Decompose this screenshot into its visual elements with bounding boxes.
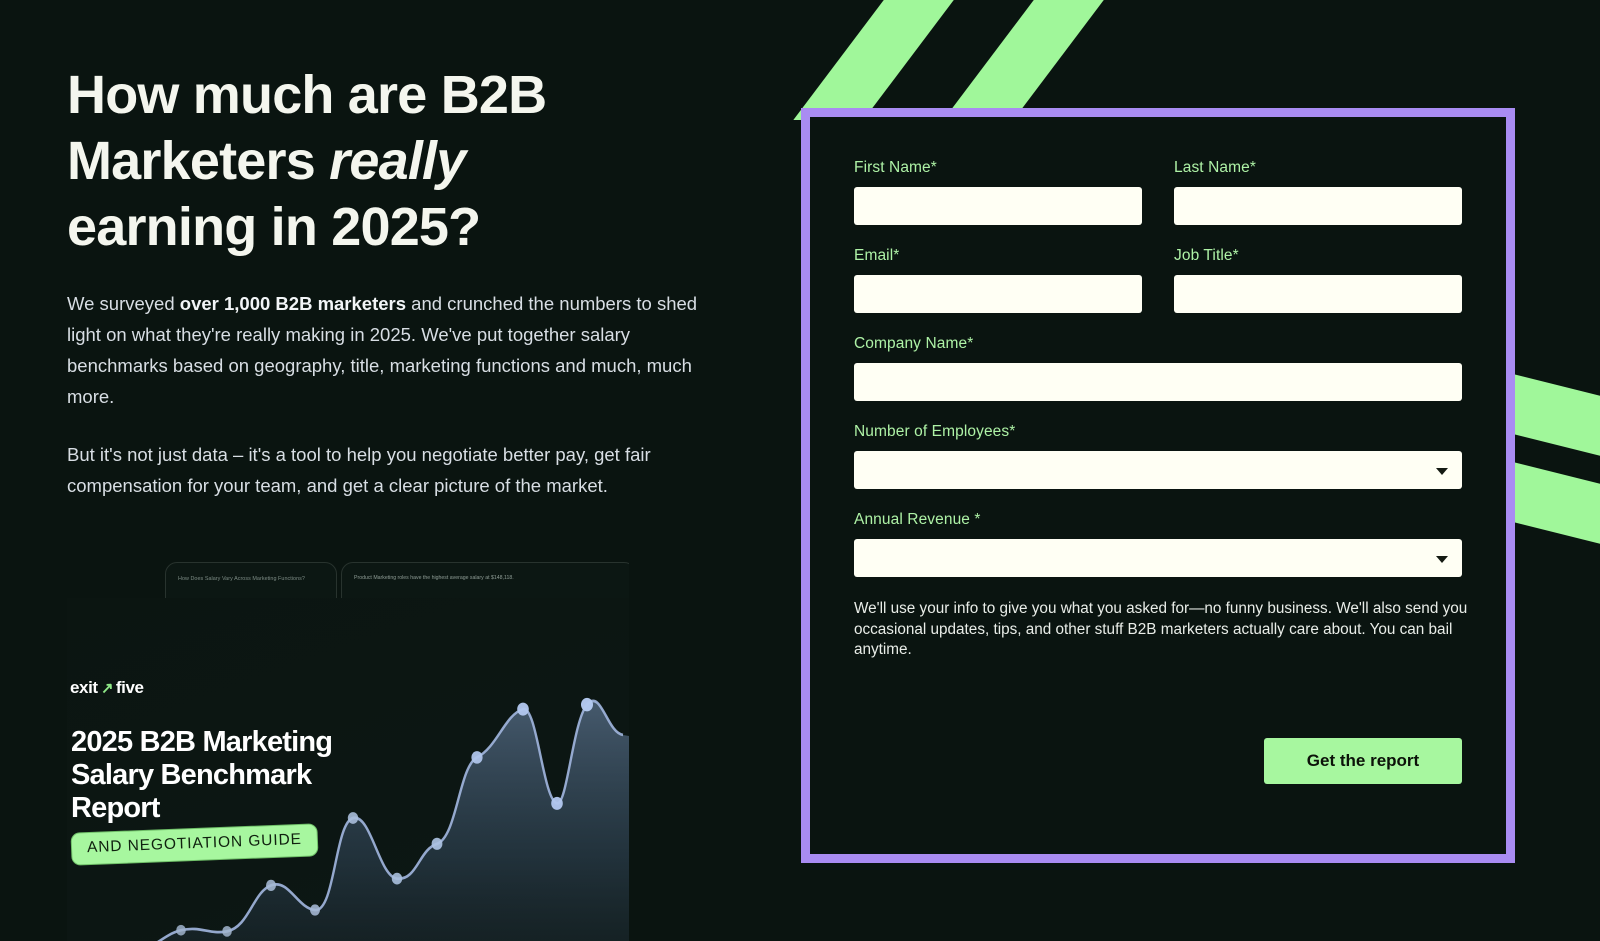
arrow-up-right-icon: ↗	[100, 679, 113, 697]
first-name-label: First Name*	[854, 159, 1142, 177]
headline-line-1: How much are B2B	[67, 65, 546, 125]
form-inner: First Name* Last Name* Email* Job Title*	[810, 117, 1506, 854]
company-name-input[interactable]	[854, 363, 1462, 401]
first-name-input[interactable]	[854, 187, 1142, 225]
email-input[interactable]	[854, 275, 1142, 313]
privacy-disclaimer: We'll use your info to give you what you…	[854, 599, 1474, 661]
hero-body-copy: We surveyed over 1,000 B2B marketers and…	[67, 288, 707, 501]
headline-line-2-italic: really	[329, 131, 465, 191]
report-cover-artwork: How Does Salary Vary Across Marketing Fu…	[67, 556, 629, 941]
hero-column: How much are B2B Marketers really earnin…	[67, 62, 707, 501]
number-of-employees-select-wrap	[854, 451, 1462, 489]
number-of-employees-label: Number of Employees*	[854, 423, 1462, 441]
annual-revenue-label: Annual Revenue *	[854, 511, 1462, 529]
lead-capture-form: First Name* Last Name* Email* Job Title*	[801, 108, 1515, 863]
field-email: Email*	[854, 247, 1142, 313]
logo-text-five: five	[116, 678, 144, 698]
landing-page: How much are B2B Marketers really earnin…	[0, 0, 1600, 941]
hero-paragraph-1: We surveyed over 1,000 B2B marketers and…	[67, 288, 707, 412]
paragraph-1-bold: over 1,000 B2B marketers	[180, 293, 406, 314]
last-name-label: Last Name*	[1174, 159, 1462, 177]
mini-card-left-question: How Does Salary Vary Across Marketing Fu…	[178, 575, 324, 583]
form-row-email-job: Email* Job Title*	[854, 247, 1462, 335]
page-title: How much are B2B Marketers really earnin…	[67, 62, 707, 260]
cover-title: 2025 B2B Marketing Salary Benchmark Repo…	[71, 726, 401, 825]
number-of-employees-select[interactable]	[854, 451, 1462, 489]
form-row-name: First Name* Last Name*	[854, 159, 1462, 247]
hero-paragraph-2: But it's not just data – it's a tool to …	[67, 439, 707, 501]
headline-line-3: earning in 2025?	[67, 197, 480, 257]
field-annual-revenue: Annual Revenue *	[854, 511, 1462, 577]
green-stripe-top-2	[943, 0, 1186, 120]
logo-text-exit: exit	[70, 678, 98, 698]
company-name-label: Company Name*	[854, 335, 1462, 353]
cover-panel: exit↗five 2025 B2B Marketing Salary Benc…	[67, 598, 629, 941]
job-title-label: Job Title*	[1174, 247, 1462, 265]
annual-revenue-select[interactable]	[854, 539, 1462, 577]
field-first-name: First Name*	[854, 159, 1142, 225]
annual-revenue-select-wrap	[854, 539, 1462, 577]
field-last-name: Last Name*	[1174, 159, 1462, 225]
field-job-title: Job Title*	[1174, 247, 1462, 313]
field-company-name: Company Name*	[854, 335, 1462, 401]
submit-wrapper: Get the report	[1264, 738, 1462, 784]
last-name-input[interactable]	[1174, 187, 1462, 225]
mini-card-right-line-1: Product Marketing roles have the highest…	[354, 575, 623, 583]
email-label: Email*	[854, 247, 1142, 265]
field-number-of-employees: Number of Employees*	[854, 423, 1462, 489]
exit-five-logo: exit↗five	[70, 678, 144, 698]
paragraph-1-pre: We surveyed	[67, 293, 180, 314]
get-the-report-button[interactable]: Get the report	[1264, 738, 1462, 784]
headline-line-2-plain: Marketers	[67, 131, 329, 191]
job-title-input[interactable]	[1174, 275, 1462, 313]
